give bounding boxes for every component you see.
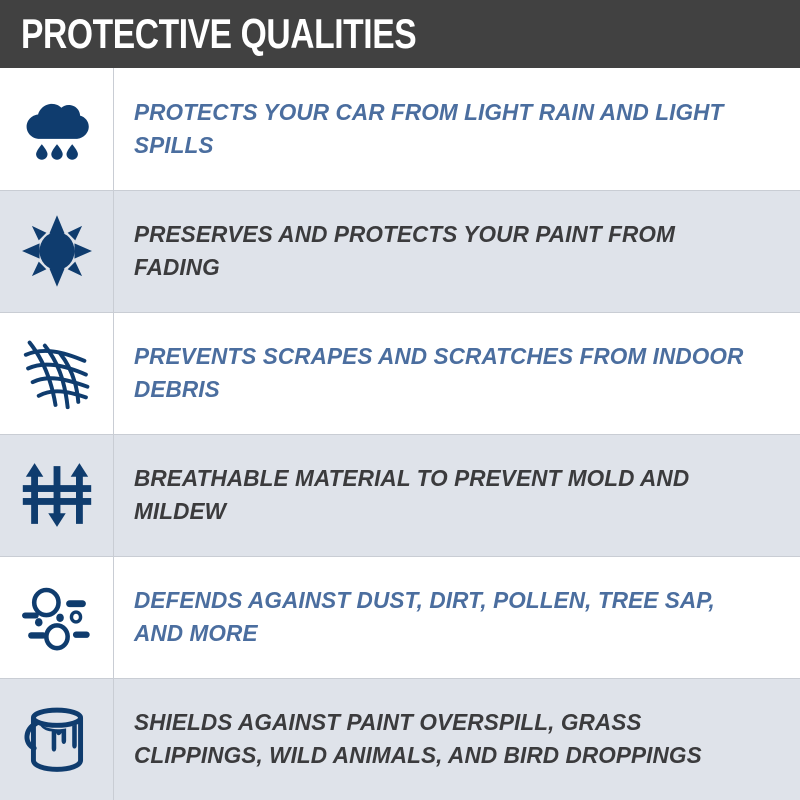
feature-row-breathable: BREATHABLE MATERIAL TO PREVENT MOLD AND … xyxy=(0,434,800,556)
feature-row-paint: SHIELDS AGAINST PAINT OVERSPILL, GRASS C… xyxy=(0,678,800,800)
feature-row-dust: DEFENDS AGAINST DUST, DIRT, POLLEN, TREE… xyxy=(0,556,800,678)
text-cell: PROTECTS YOUR CAR FROM LIGHT RAIN AND LI… xyxy=(114,68,800,190)
header-bar: PROTECTIVE QUALITIES xyxy=(0,0,800,68)
feature-text: PRESERVES AND PROTECTS YOUR PAINT FROM F… xyxy=(134,218,756,285)
text-cell: PREVENTS SCRAPES AND SCRATCHES FROM INDO… xyxy=(114,312,800,434)
protective-qualities-infographic: PROTECTIVE QUALITIES PROTECTS YOUR CAR F… xyxy=(0,0,800,800)
feature-text: BREATHABLE MATERIAL TO PREVENT MOLD AND … xyxy=(134,462,756,529)
sun-icon xyxy=(19,213,95,289)
icon-cell xyxy=(0,556,114,678)
icon-cell xyxy=(0,190,114,312)
feature-text: DEFENDS AGAINST DUST, DIRT, POLLEN, TREE… xyxy=(134,584,756,651)
feature-text: PREVENTS SCRAPES AND SCRATCHES FROM INDO… xyxy=(134,340,756,407)
scratch-mesh-icon xyxy=(19,335,95,411)
rain-cloud-icon xyxy=(19,91,95,167)
paint-can-icon xyxy=(19,701,95,777)
feature-row-rain: PROTECTS YOUR CAR FROM LIGHT RAIN AND LI… xyxy=(0,68,800,190)
text-cell: PRESERVES AND PROTECTS YOUR PAINT FROM F… xyxy=(114,190,800,312)
feature-list: PROTECTS YOUR CAR FROM LIGHT RAIN AND LI… xyxy=(0,68,800,800)
feature-row-sun: PRESERVES AND PROTECTS YOUR PAINT FROM F… xyxy=(0,190,800,312)
icon-cell xyxy=(0,68,114,190)
icon-cell xyxy=(0,312,114,434)
page-title: PROTECTIVE QUALITIES xyxy=(21,13,416,55)
text-cell: SHIELDS AGAINST PAINT OVERSPILL, GRASS C… xyxy=(114,678,800,800)
icon-cell xyxy=(0,434,114,556)
feature-row-scratch: PREVENTS SCRAPES AND SCRATCHES FROM INDO… xyxy=(0,312,800,434)
breathable-airflow-icon xyxy=(19,457,95,533)
dust-particles-icon xyxy=(19,579,95,655)
text-cell: DEFENDS AGAINST DUST, DIRT, POLLEN, TREE… xyxy=(114,556,800,678)
feature-text: PROTECTS YOUR CAR FROM LIGHT RAIN AND LI… xyxy=(134,96,756,163)
feature-text: SHIELDS AGAINST PAINT OVERSPILL, GRASS C… xyxy=(134,706,756,773)
icon-cell xyxy=(0,678,114,800)
text-cell: BREATHABLE MATERIAL TO PREVENT MOLD AND … xyxy=(114,434,800,556)
